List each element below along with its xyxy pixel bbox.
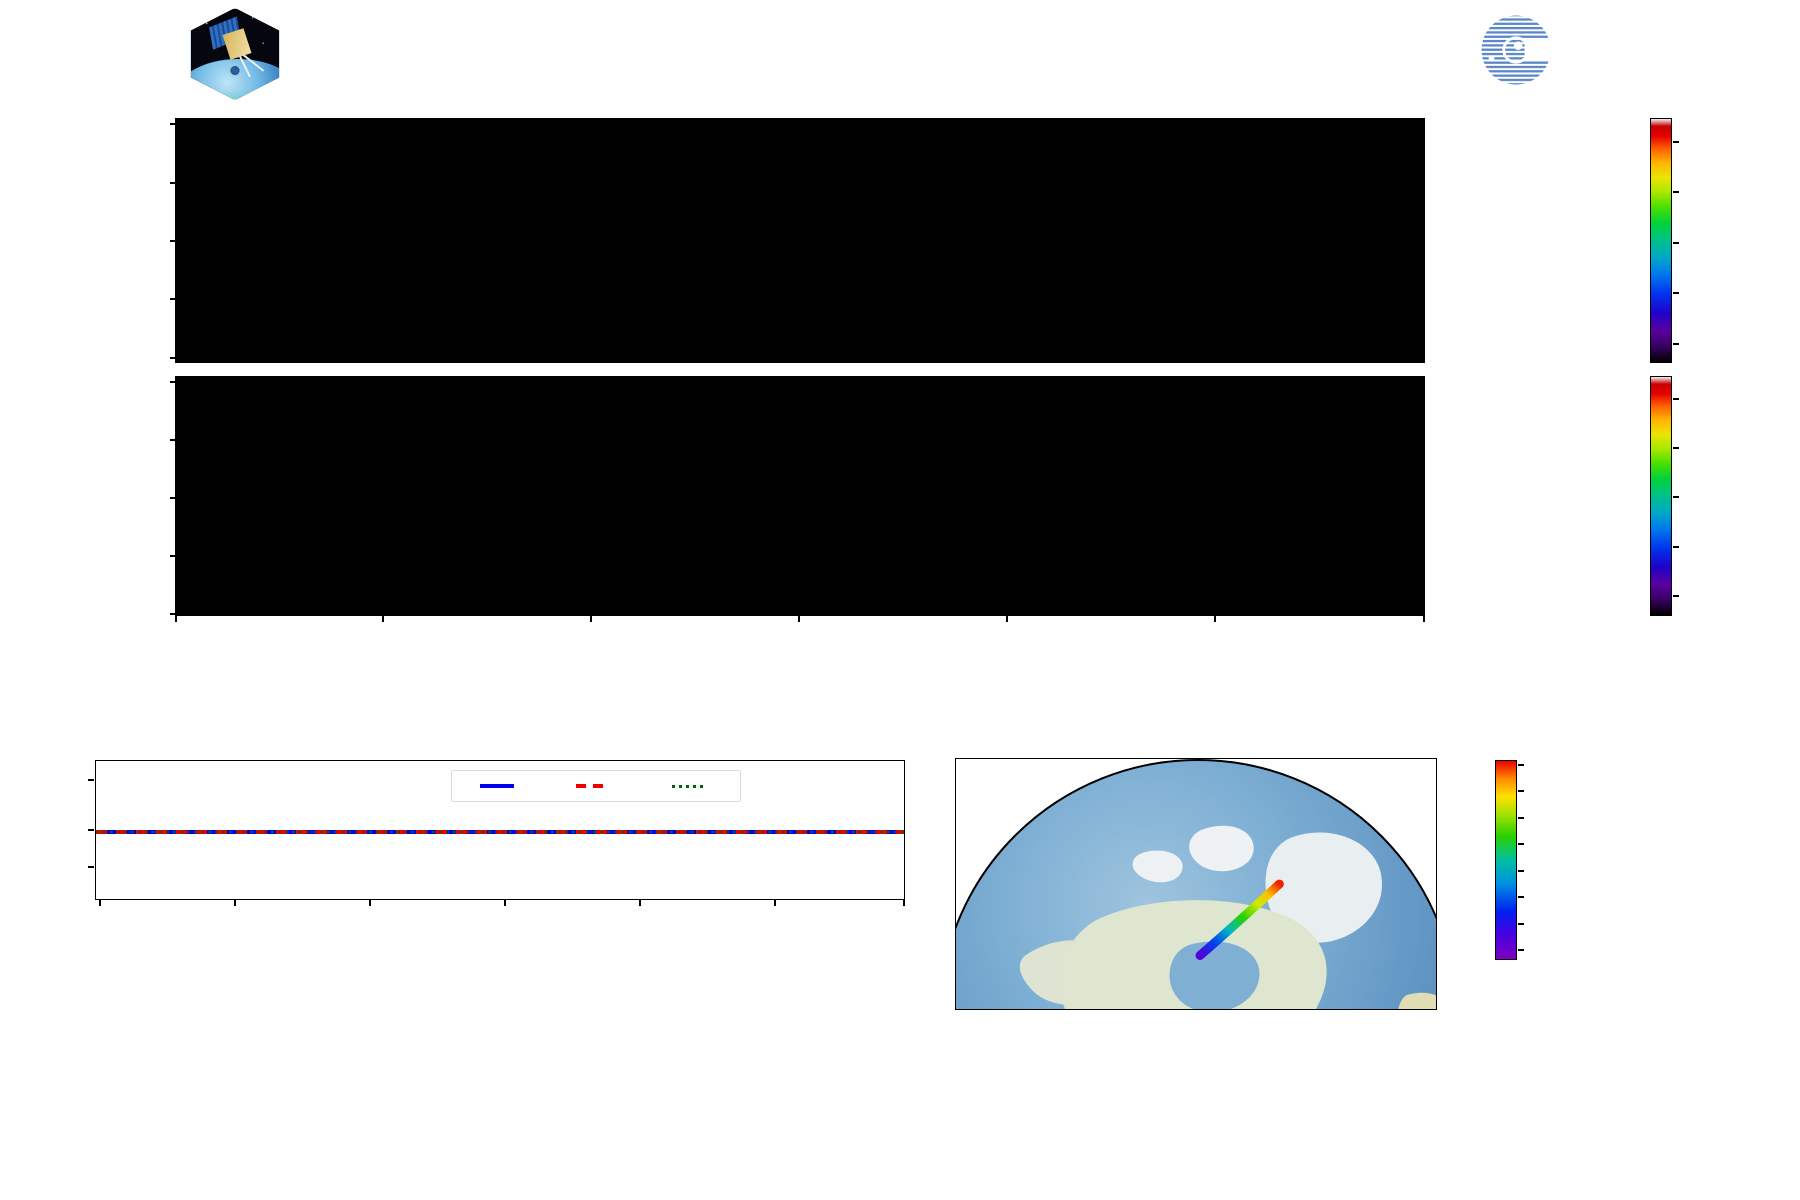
spectrogram-panel-a [0,105,1800,370]
legend-item-pitch [576,784,617,788]
esa-logo [1480,14,1780,88]
attitude-plot [95,760,905,900]
spectrogram-b-image [175,376,1425,616]
colorbar-a [1650,118,1672,363]
yaw-line-icon [480,784,514,788]
cassiope-logo [190,8,280,100]
roll-line-icon [672,785,706,788]
legend-item-roll [672,785,713,788]
attitude-legend [451,770,741,802]
altitude-colorbar [1495,760,1517,960]
pitch-line-icon [576,784,610,788]
colorbar-b [1650,376,1672,616]
spectrogram-panel-b [0,367,1800,622]
ground-track-map [955,758,1437,1010]
globe-graphic [955,759,1437,1010]
attitude-zero-traces [96,830,904,834]
esa-swirl-icon [1480,14,1552,86]
legend-item-yaw [480,784,521,788]
spectrogram-a-image [175,118,1425,363]
